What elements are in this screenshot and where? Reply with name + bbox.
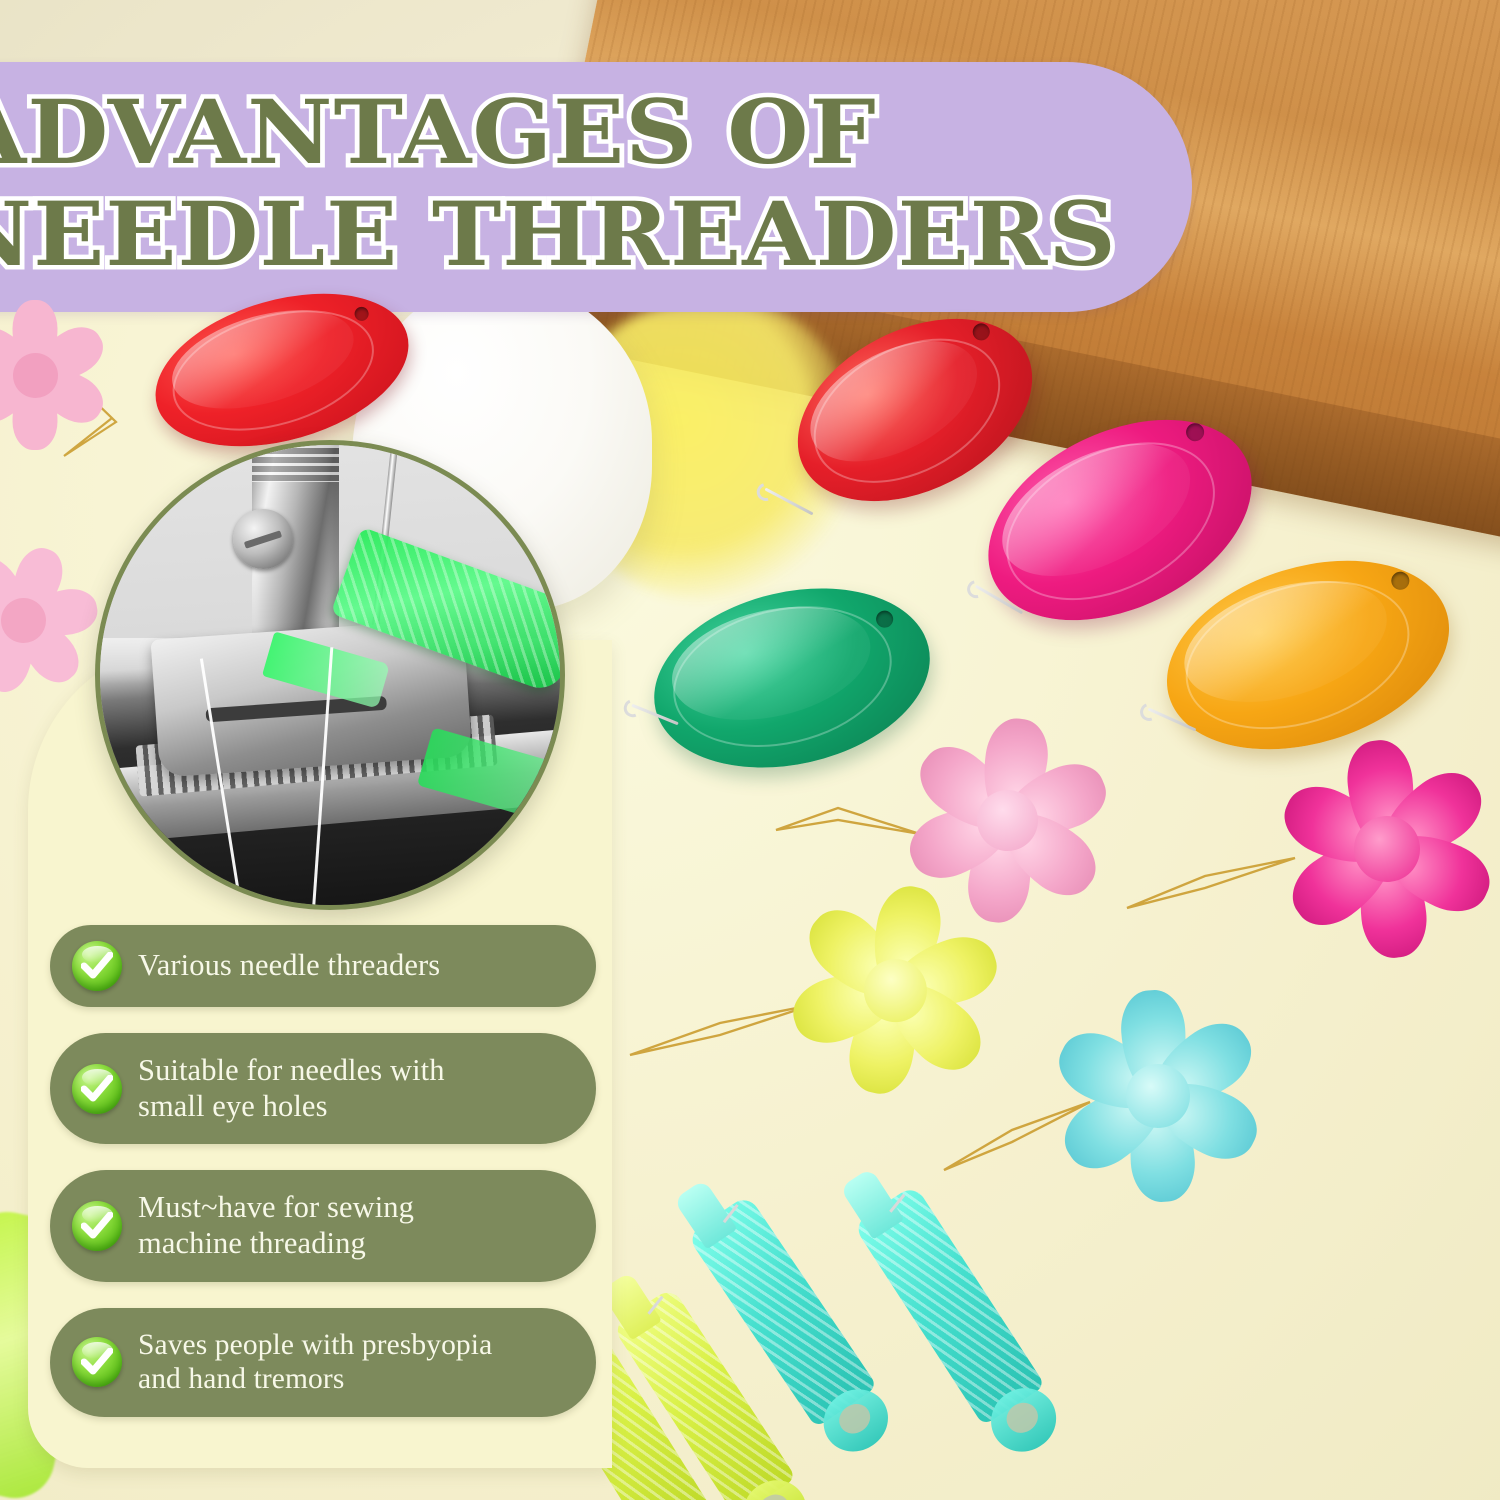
check-circle-icon <box>72 1201 122 1251</box>
page-title-line-2: NEEDLE THREADERS <box>0 182 1117 286</box>
feature-text-4: Saves people with presbyopia and hand tr… <box>138 1328 492 1397</box>
feature-item-3: Must~have for sewing machine threading <box>50 1170 596 1281</box>
feature-text-2: Suitable for needles with small eye hole… <box>138 1053 445 1124</box>
feature-text-3: Must~have for sewing machine threading <box>138 1190 414 1261</box>
feature-text-1: Various needle threaders <box>138 948 440 984</box>
infographic-canvas: ADVANTAGES OF NEEDLE THREADERS Various n… <box>0 0 1500 1500</box>
flower-threader-partial-left <box>0 545 98 695</box>
gold-wire-loop-hot-pink <box>1105 840 1305 920</box>
page-title-line-1: ADVANTAGES OF <box>0 80 877 184</box>
feature-item-4: Saves people with presbyopia and hand tr… <box>50 1308 596 1417</box>
flower-threader-partial-top-left <box>0 300 110 450</box>
title-banner: ADVANTAGES OF NEEDLE THREADERS <box>0 62 1192 312</box>
check-circle-icon <box>72 941 122 991</box>
check-circle-icon <box>72 1064 122 1114</box>
feature-item-1: Various needle threaders <box>50 925 596 1007</box>
flower-threader-hot-pink <box>1267 729 1500 969</box>
flower-threader-yellow <box>770 865 1019 1114</box>
flower-threader-light-blue <box>1045 983 1271 1209</box>
feature-item-2: Suitable for needles with small eye hole… <box>50 1033 596 1144</box>
check-circle-icon <box>72 1337 122 1387</box>
feature-list: Various needle threaders Suitable for ne… <box>50 925 596 1443</box>
sewing-machine-threading-photo <box>95 440 565 910</box>
